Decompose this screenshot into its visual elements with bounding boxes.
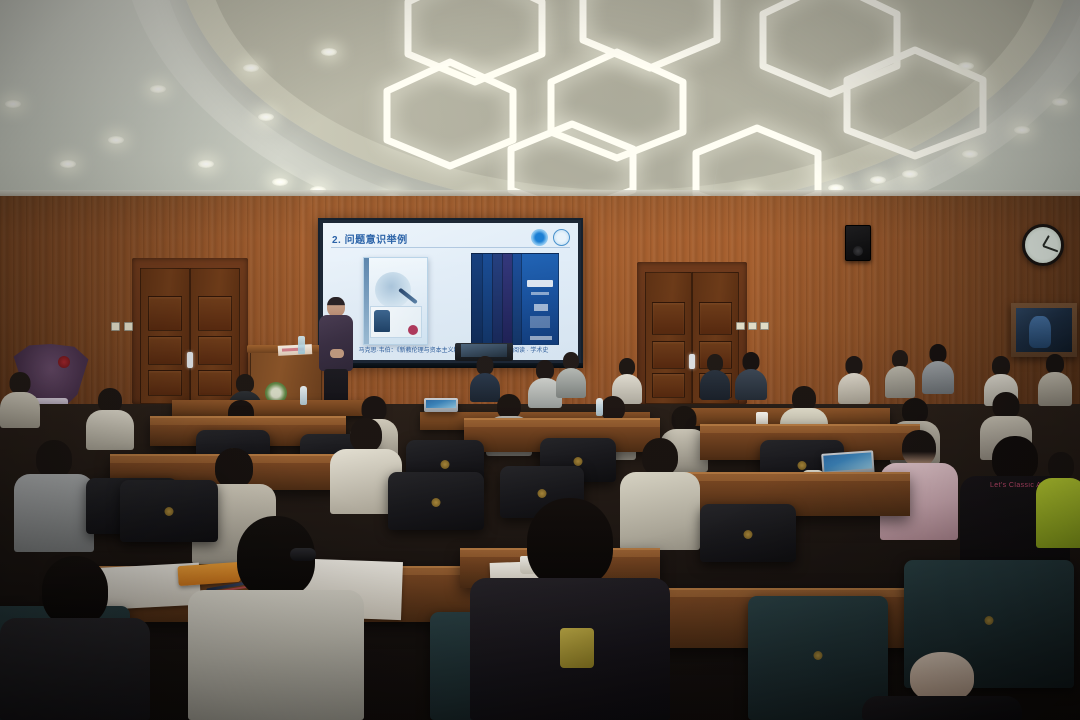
audience-person	[1038, 354, 1072, 406]
downlight-19	[958, 62, 974, 70]
slide-caption: 马克思·韦伯：《新教伦理与资本主义精神》——讲谈 · 文献阅读 · 学术史	[341, 347, 566, 356]
person-head	[42, 556, 108, 626]
book-publisher-band	[530, 336, 552, 340]
audience-person	[0, 372, 40, 428]
downlight-15	[902, 170, 918, 178]
downlight-5	[243, 64, 259, 72]
person-head	[992, 356, 1010, 376]
person-head	[993, 392, 1020, 419]
downlight-16	[962, 150, 978, 158]
person-body	[862, 696, 1022, 720]
downlight-6	[258, 113, 274, 121]
book-portrait	[375, 272, 411, 308]
person-body	[700, 370, 730, 400]
person-body	[14, 474, 94, 552]
audience-person	[922, 344, 954, 394]
slide-book-cover-image	[363, 257, 428, 345]
light-switch-plate-right-a[interactable]	[736, 322, 745, 330]
backpack-strap	[560, 628, 594, 668]
chair-stud-icon	[798, 461, 807, 470]
lectern-paper	[278, 344, 312, 356]
open-laptop[interactable]	[424, 398, 458, 412]
book-title-band	[527, 280, 553, 287]
presenter-head	[327, 297, 345, 317]
auditorium-chair[interactable]	[700, 504, 796, 562]
door-panel	[148, 336, 183, 365]
person-head	[536, 360, 554, 380]
slide-divider	[331, 247, 570, 248]
downlight-20	[870, 176, 886, 184]
book-edition-band	[534, 304, 548, 311]
slide-title: 2. 问题意识举例	[332, 231, 408, 246]
presentation-slide: 2. 问题意识举例	[323, 223, 578, 360]
lecture-hall-photo: 2. 问题意识举例	[0, 0, 1080, 720]
downlight-22	[60, 160, 76, 168]
display-screen	[1016, 308, 1072, 352]
door-panel	[148, 296, 183, 331]
audience-person	[885, 350, 915, 398]
downlight-8	[321, 48, 337, 56]
audience-person-foreground-left	[0, 556, 150, 720]
chair-stud-icon	[441, 460, 450, 469]
display-person-figure	[1029, 316, 1050, 349]
person-head	[10, 372, 31, 394]
badge-seal-dot	[408, 325, 418, 335]
person-body	[1036, 478, 1080, 548]
person-body	[0, 392, 40, 428]
light-switch-plate-left-b[interactable]	[124, 322, 133, 331]
door-panel	[198, 336, 233, 365]
light-switch-plate-right-b[interactable]	[748, 322, 757, 330]
slide-book-set-image	[471, 253, 559, 345]
person-body	[838, 373, 870, 404]
person-body	[1038, 372, 1072, 406]
speaker-cone-icon	[853, 246, 863, 256]
person-head	[642, 438, 678, 476]
audience-person-foreground-right	[862, 652, 1022, 720]
audience-person	[700, 354, 730, 400]
person-body	[735, 369, 767, 400]
person-head	[215, 448, 253, 488]
laptop-screen	[823, 452, 872, 471]
door-panel	[652, 373, 684, 398]
presenter-hands	[330, 349, 344, 358]
person-head	[36, 440, 72, 478]
downlight-1	[5, 100, 21, 108]
audience-person-foreground-dark	[470, 498, 670, 720]
door-panel	[198, 296, 233, 331]
person-body	[0, 618, 150, 720]
light-switch-plate-right-c[interactable]	[760, 322, 769, 330]
chair-stud-icon	[985, 616, 994, 625]
person-head	[1046, 354, 1064, 374]
downlight-17	[1014, 126, 1030, 134]
wristwatch	[290, 548, 316, 561]
clock-minute-hand	[1043, 245, 1059, 252]
person-head	[350, 418, 382, 452]
chair-stud-icon	[432, 498, 441, 507]
left-door-leaf-a[interactable]	[140, 268, 190, 404]
book-blurb-band	[530, 316, 550, 328]
presenter-standing	[318, 297, 354, 415]
audience-person-foreground-hoodie	[188, 516, 364, 720]
person-body	[188, 590, 364, 720]
person-body	[885, 366, 915, 398]
blue-round-logo-icon	[531, 229, 548, 246]
audience-person	[556, 352, 586, 398]
book-front-cover	[521, 253, 559, 345]
hexagon-light-4	[380, 58, 520, 170]
chair-stud-icon	[744, 530, 753, 539]
projection-screen: 2. 问题意识举例	[318, 218, 583, 365]
audience-person	[1036, 452, 1080, 548]
badge-portrait	[374, 310, 390, 332]
left-door-handle[interactable]	[187, 352, 193, 368]
person-head	[1048, 452, 1074, 480]
door-panel	[148, 370, 183, 397]
chair-stud-icon	[574, 457, 583, 466]
person-head	[910, 652, 974, 702]
wall-clock	[1022, 224, 1064, 266]
downlight-4	[272, 178, 288, 186]
person-body	[922, 361, 954, 394]
chair-stud-icon	[538, 489, 547, 498]
rose-flower	[58, 356, 70, 368]
person-head	[527, 498, 613, 588]
door-panel	[652, 302, 684, 336]
wall-mounted-display	[1011, 303, 1077, 357]
university-seal-logo-icon	[553, 229, 570, 246]
lectern-water-bottle	[298, 336, 305, 354]
door-panel	[699, 302, 731, 336]
audience-person	[735, 352, 767, 400]
downlight-21	[150, 85, 166, 93]
presenter-torso	[319, 315, 353, 371]
ceiling	[0, 0, 1080, 215]
audience-person	[838, 356, 870, 404]
person-head	[902, 430, 936, 466]
water-bottle	[300, 386, 307, 405]
left-door[interactable]	[140, 268, 240, 404]
person-body	[556, 368, 586, 398]
door-panel	[652, 341, 684, 370]
chair-stud-icon	[814, 651, 823, 660]
downlight-2	[108, 136, 124, 144]
wall-speaker	[845, 225, 871, 261]
book-spine	[364, 258, 369, 344]
book-subtitle-band	[531, 292, 549, 295]
audience-person	[14, 440, 94, 552]
book-inset-badge	[370, 306, 422, 338]
chair-stud-icon	[165, 507, 174, 516]
downlight-3	[198, 160, 214, 168]
downlight-18	[1052, 98, 1068, 106]
right-door-leaf-a[interactable]	[645, 272, 692, 404]
laptop-screen	[426, 400, 456, 408]
water-bottle	[596, 398, 603, 416]
right-door-handle[interactable]	[689, 354, 695, 369]
light-switch-plate-left-a[interactable]	[111, 322, 120, 331]
